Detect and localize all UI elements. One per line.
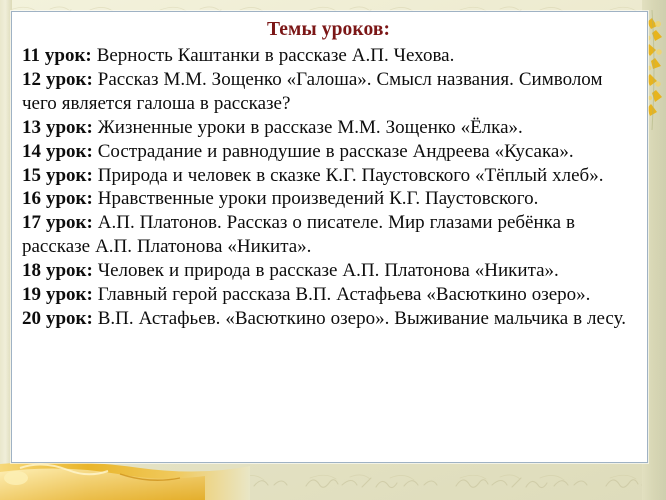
lesson-item-14: 14 урок: Сострадание и равнодушие в расс… bbox=[22, 140, 635, 164]
lesson-number-16: 16 урок: bbox=[22, 188, 93, 209]
lesson-item-13: 13 урок: Жизненные уроки в рассказе М.М.… bbox=[22, 116, 635, 140]
lesson-text-17: А.П. Платонов. Рассказ о писателе. Мир г… bbox=[22, 212, 575, 257]
lesson-number-15: 15 урок: bbox=[22, 165, 93, 186]
lesson-text-15: Природа и человек в сказке К.Г. Паустовс… bbox=[98, 165, 604, 186]
content-card: Темы уроков: 11 урок: Верность Каштанки … bbox=[11, 11, 648, 463]
lesson-text-20: В.П. Астафьев. «Васюткино озеро». Выжива… bbox=[98, 308, 626, 329]
lesson-item-11: 11 урок: Верность Каштанки в рассказе А.… bbox=[22, 44, 635, 68]
lesson-number-11: 11 урок: bbox=[22, 45, 92, 66]
lesson-item-19: 19 урок: Главный герой рассказа В.П. Аст… bbox=[22, 283, 635, 307]
lesson-text-13: Жизненные уроки в рассказе М.М. Зощенко … bbox=[98, 117, 523, 138]
lesson-text-19: Главный герой рассказа В.П. Астафьева «В… bbox=[98, 284, 591, 305]
lesson-text-14: Сострадание и равнодушие в рассказе Андр… bbox=[98, 141, 574, 162]
lesson-item-12: 12 урок: Рассказ М.М. Зощенко «Галоша». … bbox=[22, 68, 635, 116]
lesson-number-14: 14 урок: bbox=[22, 141, 93, 162]
lesson-item-18: 18 урок: Человек и природа в рассказе А.… bbox=[22, 259, 635, 283]
lesson-number-19: 19 урок: bbox=[22, 284, 93, 305]
page-title: Темы уроков: bbox=[22, 19, 635, 41]
gold-swash-decoration bbox=[0, 458, 250, 500]
lesson-text-12: Рассказ М.М. Зощенко «Галоша». Смысл наз… bbox=[22, 69, 602, 114]
lesson-text-16: Нравственные уроки произведений К.Г. Пау… bbox=[98, 188, 539, 209]
lesson-item-20: 20 урок: В.П. Астафьев. «Васюткино озеро… bbox=[22, 307, 635, 331]
lesson-number-17: 17 урок: bbox=[22, 212, 93, 233]
lesson-text-18: Человек и природа в рассказе А.П. Платон… bbox=[98, 260, 559, 281]
lesson-number-12: 12 урок: bbox=[22, 69, 93, 90]
slide-canvas: Темы уроков: 11 урок: Верность Каштанки … bbox=[0, 0, 666, 500]
lesson-item-17: 17 урок: А.П. Платонов. Рассказ о писате… bbox=[22, 211, 635, 259]
lesson-item-15: 15 урок: Природа и человек в сказке К.Г.… bbox=[22, 164, 635, 188]
lesson-item-16: 16 урок: Нравственные уроки произведений… bbox=[22, 187, 635, 211]
lesson-text-11: Верность Каштанки в рассказе А.П. Чехова… bbox=[97, 45, 455, 66]
lesson-number-20: 20 урок: bbox=[22, 308, 93, 329]
lesson-number-13: 13 урок: bbox=[22, 117, 93, 138]
lesson-number-18: 18 урок: bbox=[22, 260, 93, 281]
content-card-inner: Темы уроков: 11 урок: Верность Каштанки … bbox=[12, 12, 647, 331]
